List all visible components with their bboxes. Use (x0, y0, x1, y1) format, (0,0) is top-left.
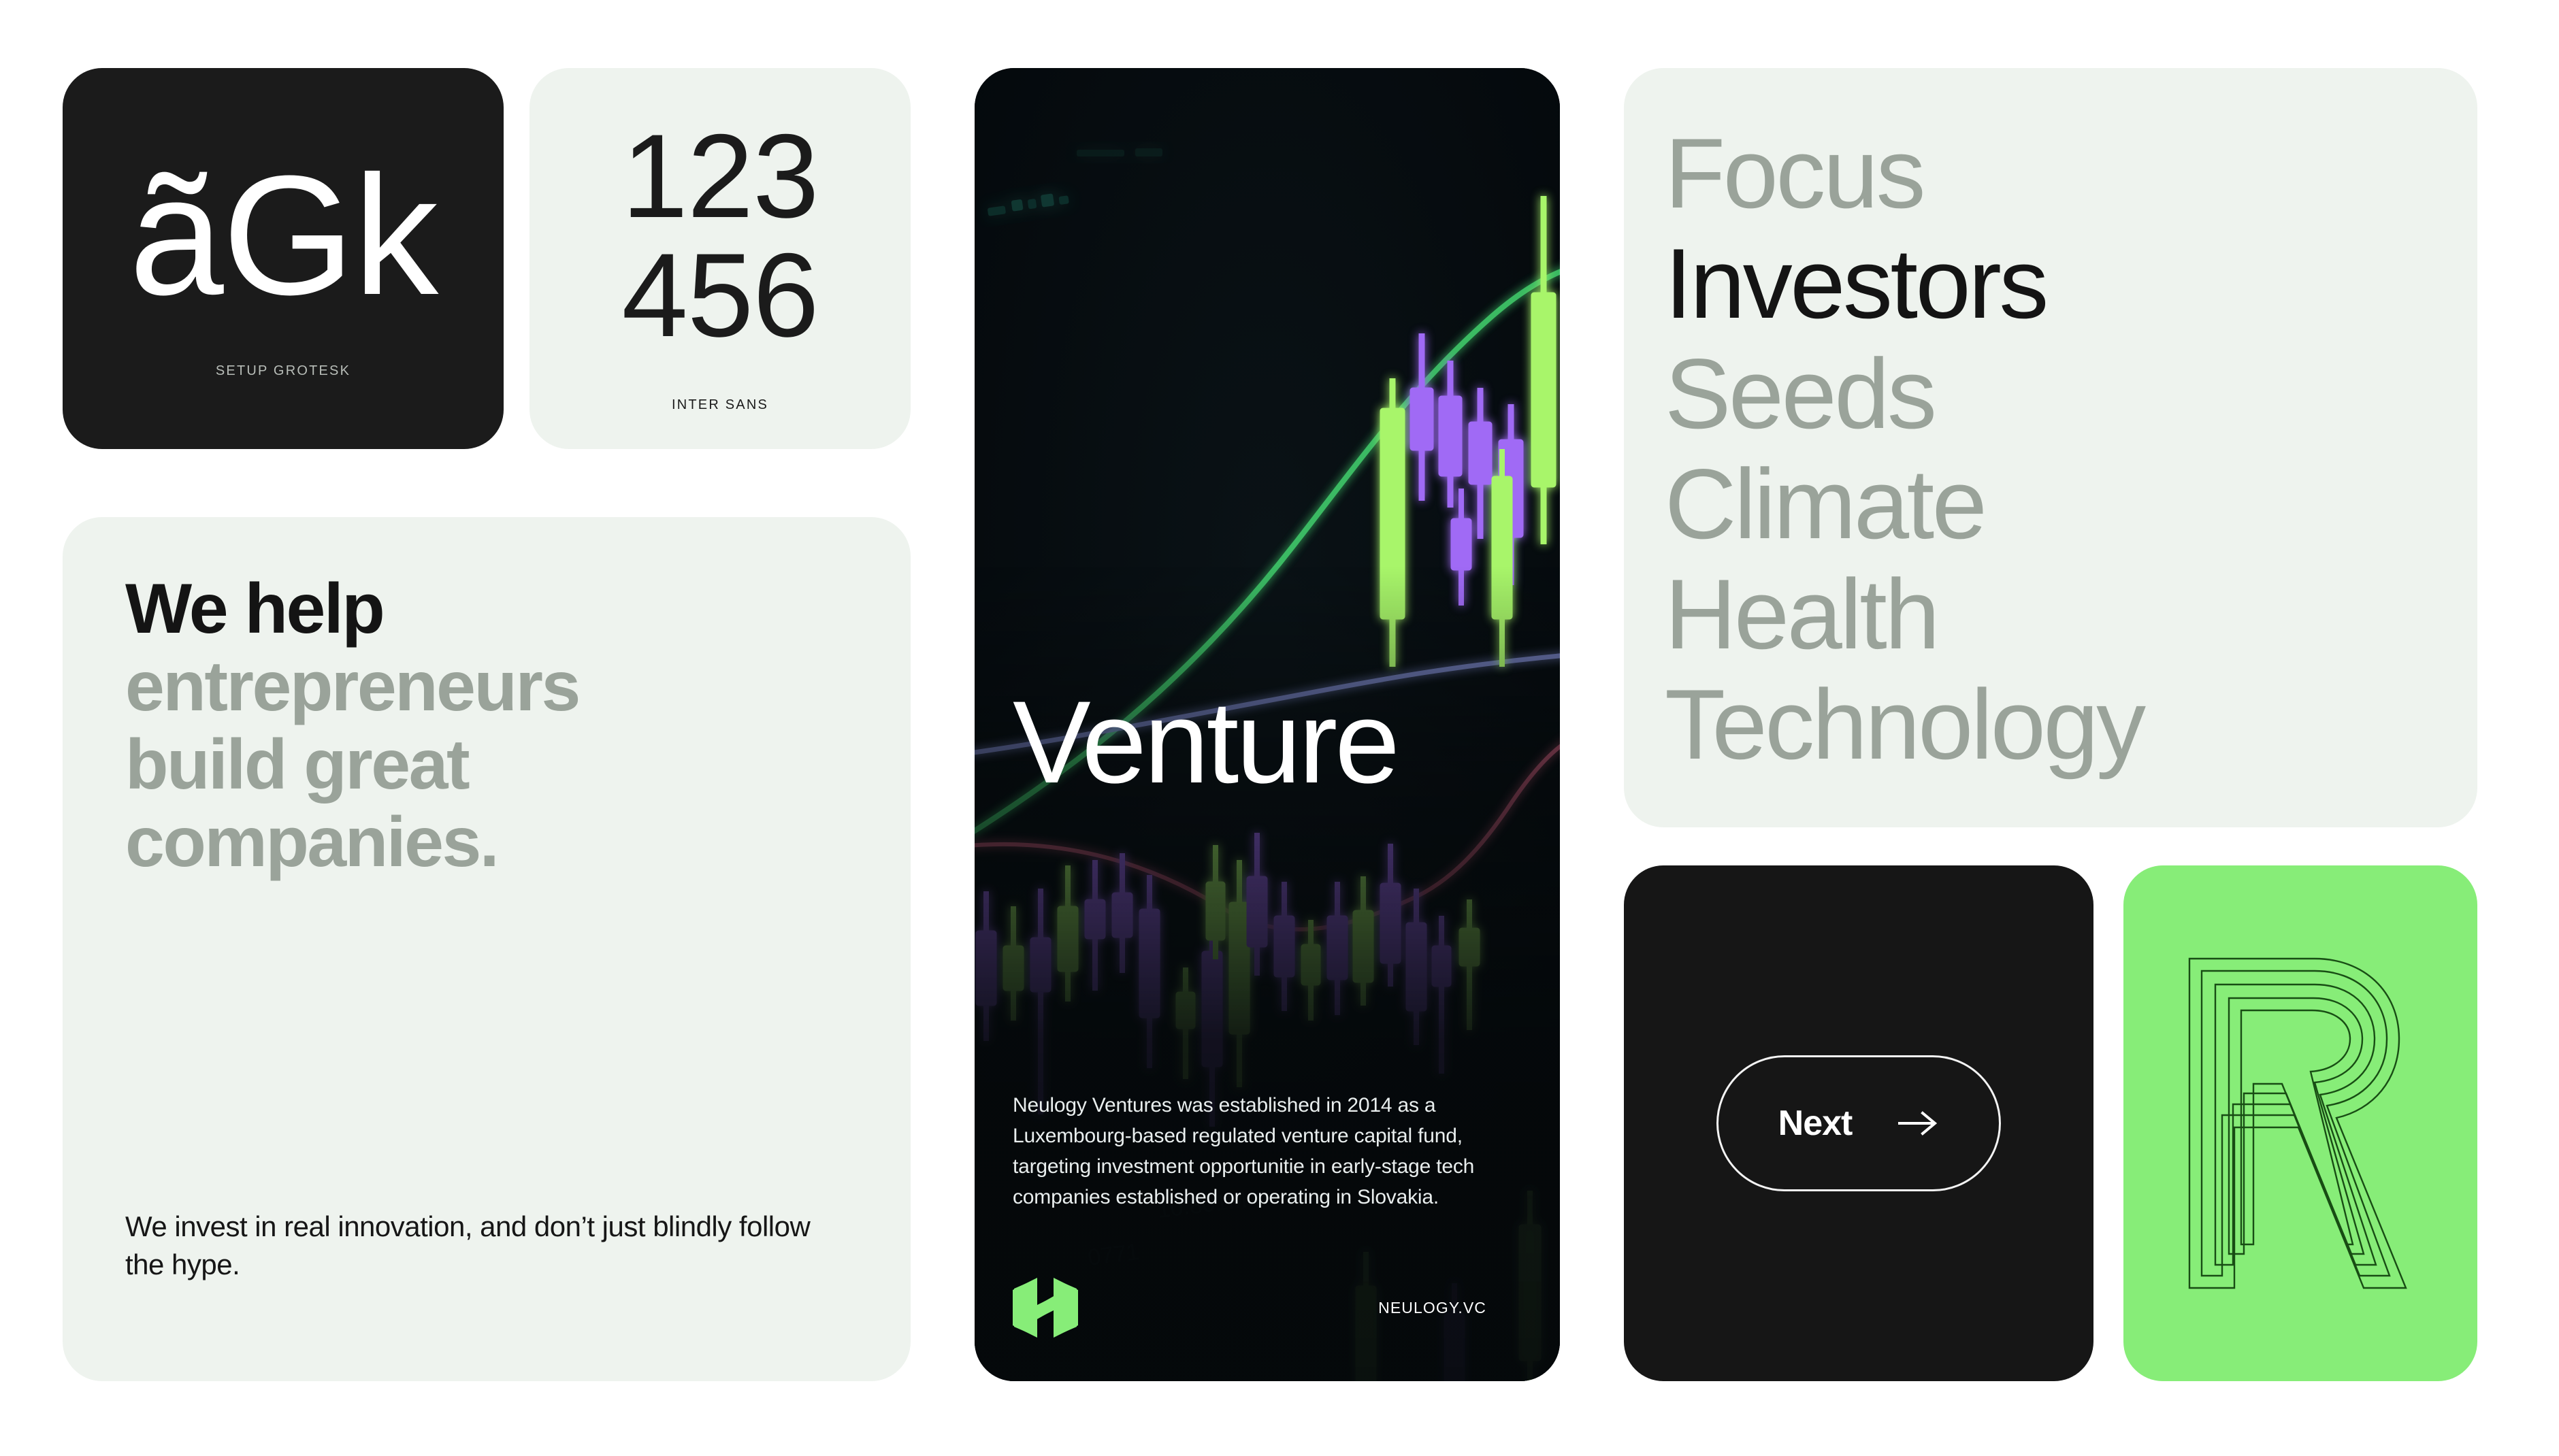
headline-lead: We help (125, 570, 848, 648)
numeral-specimen-caption: INTER SANS (672, 397, 768, 413)
headline-muted-line-2: build great (125, 726, 848, 804)
numeral-line-two: 456 (622, 236, 819, 355)
focus-item-health[interactable]: Health (1665, 559, 2436, 669)
focus-item-seeds[interactable]: Seeds (1665, 339, 2436, 449)
poster-url-label: NEULOGY.VC (1378, 1299, 1486, 1317)
focus-item-climate[interactable]: Climate (1665, 449, 2436, 559)
card-venture-poster[interactable]: 10.801M 0771 Venture Neulogy Ventures wa… (975, 68, 1560, 1381)
statement-headline: We help entrepreneurs build great compan… (125, 570, 848, 882)
type-specimen-caption: SETUP GROTESK (216, 363, 351, 379)
numeral-specimen-lines: 123 456 (622, 117, 819, 355)
focus-item-technology[interactable]: Technology (1665, 669, 2436, 780)
neulogy-logo-icon (1013, 1278, 1078, 1338)
letter-r-outline-icon (2181, 953, 2419, 1293)
card-focus-list: Focus Investors Seeds Climate Health Tec… (1624, 68, 2477, 827)
next-button-label: Next (1778, 1103, 1853, 1144)
focus-item-focus[interactable]: Focus (1665, 118, 2436, 229)
type-specimen-glyphs: ãGk (129, 154, 438, 316)
card-statement: We help entrepreneurs build great compan… (63, 517, 911, 1381)
card-board: ãGk SETUP GROTESK 123 456 INTER SANS We … (63, 68, 2477, 1381)
poster-footer: NEULOGY.VC (1013, 1278, 1522, 1338)
card-type-specimen[interactable]: ãGk SETUP GROTESK (63, 68, 504, 449)
card-next-tile: Next (1624, 865, 2093, 1381)
next-button[interactable]: Next (1716, 1055, 2001, 1191)
numeral-line-one: 123 (622, 117, 819, 236)
headline-muted-line-3: companies. (125, 804, 848, 881)
focus-item-investors[interactable]: Investors (1665, 229, 2436, 339)
card-numeral-specimen[interactable]: 123 456 INTER SANS (529, 68, 911, 449)
card-letter-r (2123, 865, 2477, 1381)
poster-paragraph: Neulogy Ventures was established in 2014… (1013, 1090, 1522, 1212)
headline-muted-line-1: entrepreneurs (125, 648, 848, 725)
statement-subcopy: We invest in real innovation, and don’t … (125, 1208, 819, 1334)
arrow-right-icon (1897, 1110, 1939, 1136)
